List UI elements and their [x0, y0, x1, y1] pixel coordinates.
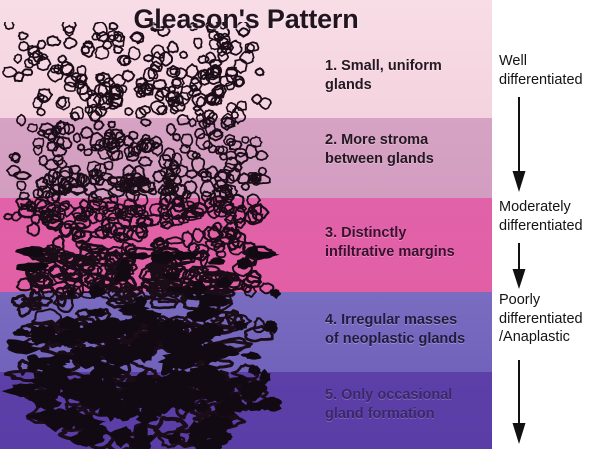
grade-label-poor-line3: /Anaplastic — [499, 328, 600, 347]
pattern-caption-3-line2: infiltrative margins — [325, 243, 492, 262]
pattern-caption-5-line2: gland formation — [325, 405, 492, 424]
grade-label-moderate: Moderately differentiated — [499, 198, 600, 235]
grade-label-moderate-line1: Moderately — [499, 198, 600, 217]
arrow-moderate-to-poor-icon — [511, 243, 527, 289]
pattern-caption-3: 3. Distinctly infiltrative margins — [325, 224, 492, 263]
pattern-caption-1: 1. Small, uniform glands — [325, 57, 492, 96]
pattern-caption-2: 2. More stroma between glands — [325, 131, 492, 170]
pattern-caption-4: 4. Irregular masses of neoplastic glands — [325, 311, 492, 350]
pattern-caption-2-line1: 2. More stroma — [325, 131, 492, 150]
grade-label-poor: Poorly differentiated /Anaplastic — [499, 291, 600, 347]
gleason-color-panel: Gleason's Pattern 1. Small, uniform glan… — [0, 0, 492, 449]
grade-label-well: Well differentiated — [499, 52, 600, 89]
grade-label-poor-line2: differentiated — [499, 310, 600, 329]
grade-label-well-line1: Well — [499, 52, 600, 71]
pattern-caption-2-line2: between glands — [325, 150, 492, 169]
grade-label-poor-line1: Poorly — [499, 291, 600, 310]
page-title: Gleason's Pattern — [0, 4, 492, 35]
pattern-caption-5: 5. Only occasional gland formation — [325, 386, 492, 425]
grade-label-well-line2: differentiated — [499, 71, 600, 90]
pattern-caption-4-line2: of neoplastic glands — [325, 330, 492, 349]
pattern-caption-3-line1: 3. Distinctly — [325, 224, 492, 243]
arrow-well-to-moderate-icon — [511, 97, 527, 192]
pattern-caption-1-line1: 1. Small, uniform — [325, 57, 492, 76]
pattern-caption-1-line2: glands — [325, 76, 492, 95]
pattern-caption-4-line1: 4. Irregular masses — [325, 311, 492, 330]
gleason-pattern-figure: Gleason's Pattern 1. Small, uniform glan… — [0, 0, 600, 449]
differentiation-column: Well differentiated Moderately different… — [492, 0, 600, 449]
arrow-poor-continued-icon — [511, 360, 527, 444]
grade-label-moderate-line2: differentiated — [499, 217, 600, 236]
pattern-caption-5-line1: 5. Only occasional — [325, 386, 492, 405]
